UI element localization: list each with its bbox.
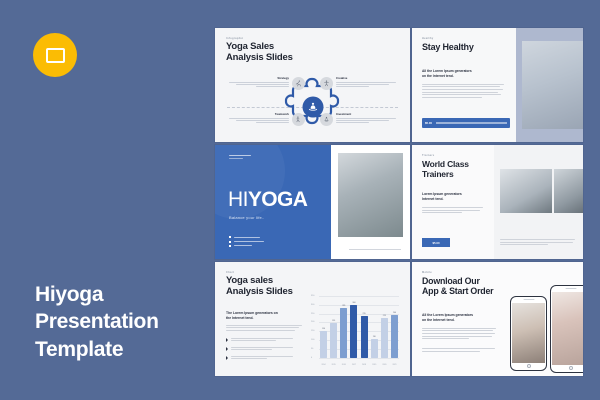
- slide-subtitle: All the Lorem Ipsum generators on the In…: [422, 313, 501, 323]
- body-copy: [422, 207, 486, 215]
- slide-preview-download-app[interactable]: Mobile Download Our App & Start Order Al…: [412, 262, 583, 376]
- phone-notch: [565, 288, 576, 289]
- quadrant-strategy: Strategy: [229, 76, 289, 89]
- logo-light: HI: [228, 188, 248, 211]
- x-tick: 2017: [350, 364, 357, 366]
- body-copy: [422, 328, 501, 341]
- infographic-diagram: Strategy Teamwork Creative Investme: [215, 74, 410, 140]
- body-copy-secondary: [422, 348, 501, 353]
- quadrant-creative: Creative: [336, 76, 396, 89]
- yoga-class-photo: [522, 41, 583, 129]
- slide-preview-trainers[interactable]: Trainers World Class Trainers Lorem Ipsu…: [412, 145, 583, 259]
- runner-icon: [292, 77, 305, 90]
- cta-button[interactable]: $5.00: [422, 238, 450, 247]
- chart-bar: 300: [350, 296, 357, 358]
- y-tick: 150: [311, 330, 314, 332]
- yoga-woman-photo: [338, 153, 403, 237]
- slide-eyebrow: Infographic: [226, 37, 399, 40]
- y-tick: 250: [311, 313, 314, 315]
- triangle-bullet-icon: [226, 347, 228, 351]
- slide-subtitle: All the Lorem Ipsum generators on the In…: [422, 69, 507, 79]
- y-tick: 200: [311, 321, 314, 323]
- phone-screen-photo: [552, 292, 583, 365]
- y-tick: 50: [311, 348, 313, 350]
- center-badge: [302, 97, 323, 118]
- quadrant-teamwork: Teamwork: [229, 112, 289, 125]
- y-tick: 300: [311, 304, 314, 306]
- title-line-2: Presentation: [35, 308, 215, 335]
- title-line-1: Hiyoga: [35, 281, 215, 308]
- slide-eyebrow: Mobile: [422, 271, 501, 274]
- phone-notch: [523, 299, 534, 300]
- left-panel: Hiyoga Presentation Template: [0, 0, 215, 400]
- chart-bar: 235: [361, 296, 368, 358]
- slide-headline: Stay Healthy: [422, 42, 507, 52]
- trainer-photo-1: [500, 169, 552, 213]
- x-tick: 2020: [381, 364, 388, 366]
- lotus-meditation-icon: [307, 102, 318, 113]
- x-tick: 2015: [330, 364, 337, 366]
- cta-price: $5.00: [433, 241, 440, 245]
- page-title: Hiyoga Presentation Template: [35, 281, 215, 363]
- slide-preview-infographic[interactable]: Infographic Yoga Sales Analysis Slides S…: [215, 28, 410, 142]
- slide-subtitle: Lorem Ipsum generators Internet tend.: [422, 192, 486, 202]
- title-line-3: Template: [35, 336, 215, 363]
- cta-price: $5.00: [425, 121, 432, 125]
- slide-headline: World Class Trainers: [422, 159, 486, 179]
- tagline: Balance your life..: [229, 215, 265, 220]
- phone-mockup-2: [550, 285, 583, 373]
- photo-caption-bar: [349, 249, 401, 250]
- cta-button[interactable]: $5.00: [422, 118, 510, 128]
- slide-preview-stay-healthy[interactable]: Healthy Stay Healthy All the Lorem Ipsum…: [412, 28, 583, 142]
- text-pane: Mobile Download Our App & Start Order Al…: [412, 262, 508, 376]
- x-tick: 2016: [340, 364, 347, 366]
- stretch-icon: [292, 113, 305, 126]
- chart-bar: 110: [371, 296, 378, 358]
- slide-subtitle: The Lorem Ipsum generators on the Intern…: [226, 311, 304, 321]
- x-tick: 2021: [391, 364, 398, 366]
- slide-headline: Yoga Sales Analysis Slides: [226, 42, 399, 64]
- chart-bar: 150: [320, 296, 327, 358]
- phone-home-button: [569, 366, 573, 370]
- bar-chart: 350 300 250 200 150 100 50 0 150 195 285…: [311, 296, 399, 366]
- chart-bar: 225: [381, 296, 388, 358]
- slide-preview-cover[interactable]: HIYOGA Balance your life..: [215, 145, 410, 259]
- triangle-bullet-icon: [226, 338, 228, 342]
- chart-bar: 285: [340, 296, 347, 358]
- slide-headline: Download Our App & Start Order: [422, 276, 501, 297]
- chart-plot-area: 150 195 285 300 235 110 225 240: [320, 296, 398, 358]
- chart-bar: 240: [391, 296, 398, 358]
- triangle-bullet-icon: [226, 356, 228, 360]
- y-tick: 100: [311, 339, 314, 341]
- slide-eyebrow: Chart: [226, 271, 399, 274]
- chart-bar: 195: [330, 296, 337, 358]
- bullet-list: [229, 236, 264, 249]
- cta-label-bar: [436, 122, 507, 123]
- y-tick: 350: [311, 295, 314, 297]
- body-copy: [422, 84, 507, 100]
- slide-preview-chart[interactable]: Chart Yoga sales Analysis Slides The Lor…: [215, 262, 410, 376]
- slide-preview-grid: Infographic Yoga Sales Analysis Slides S…: [215, 28, 586, 372]
- yoga-pose-icon: [320, 77, 333, 90]
- quadrant-investment: Investment: [336, 112, 396, 125]
- chart-x-axis: 2014 2015 2016 2017 2018 2019 2020 2021: [320, 364, 398, 366]
- meditate-icon: [320, 113, 333, 126]
- slide-eyebrow: Healthy: [422, 37, 507, 40]
- phone-home-button: [527, 364, 531, 368]
- x-tick: 2018: [361, 364, 368, 366]
- brandmark: [229, 155, 251, 161]
- phone-screen-photo: [512, 303, 544, 363]
- trainer-photos: [500, 169, 583, 213]
- body-copy: [226, 325, 304, 333]
- y-tick: 0: [311, 357, 312, 359]
- logo: HIYOGA: [228, 189, 307, 210]
- footnote-copy: [500, 239, 575, 247]
- logo-bold: YOGA: [248, 188, 307, 211]
- slide-eyebrow: Trainers: [422, 154, 486, 157]
- trainer-photo-2: [554, 169, 583, 213]
- x-tick: 2014: [320, 364, 327, 366]
- google-slides-icon: [33, 33, 77, 77]
- x-tick: 2019: [371, 364, 378, 366]
- phone-mockup-1: [510, 296, 547, 371]
- slides-glyph: [46, 48, 65, 63]
